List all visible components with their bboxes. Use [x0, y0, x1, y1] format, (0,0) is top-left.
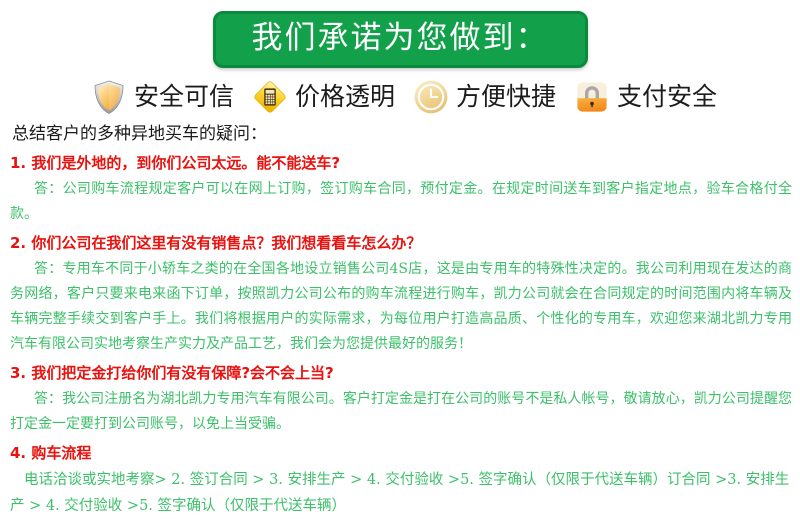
faq-answer: 答：公司购车流程规定客户可以在网上订购，签订购车合同，预付定金。在规定时间送车到…: [10, 177, 792, 227]
faq-answer: 答：专用车不同于小轿车之类的在全国各地设立销售公司4S店，这是由专用车的特殊性决…: [10, 257, 792, 357]
purchase-flow-steps: 电话洽谈或实地考察> 2. 签订合同 > 3. 安排生产 > 4. 交付验收 >…: [10, 467, 792, 519]
feature-label: 安全可信: [134, 82, 234, 112]
feature-label: 支付安全: [617, 82, 717, 112]
feature-item-price: 价格透明: [252, 79, 395, 115]
shield-icon: [91, 79, 127, 115]
promise-banner: 我们承诺为您做到：: [213, 11, 588, 68]
calculator-icon: [252, 79, 288, 115]
banner-row: 我们承诺为您做到：: [0, 0, 800, 68]
purchase-flow-title: 4. 购车流程: [10, 441, 794, 465]
feature-label: 方便快捷: [456, 82, 556, 112]
clock-icon: [413, 79, 449, 115]
faq-answer: 答：我公司注册名为湖北凯力专用汽车有限公司。客户打定金是打在公司的账号不是私人帐…: [10, 387, 792, 437]
feature-item-security: 安全可信: [91, 79, 234, 115]
page-title: 总结客户的多种异地买车的疑问：: [12, 121, 794, 147]
banner-title: 我们承诺为您做到：: [252, 19, 549, 57]
lock-icon: [574, 79, 610, 115]
feature-item-convenience: 方便快捷: [413, 79, 556, 115]
feature-row: 安全可信: [0, 79, 800, 115]
faq-question: 1. 我们是外地的，到你们公司太远。能不能送车?: [10, 151, 794, 175]
faq-question: 3. 我们把定金打给你们有没有保障?会不会上当?: [10, 361, 794, 385]
feature-label: 价格透明: [295, 82, 395, 112]
promo-page: 我们承诺为您做到：: [0, 0, 800, 505]
faq-question: 2. 你们公司在我们这里有没有销售点？我们想看看车怎么办？: [10, 231, 794, 255]
feature-item-payment: 支付安全: [574, 79, 717, 115]
faq-content: 总结客户的多种异地买车的疑问： 1. 我们是外地的，到你们公司太远。能不能送车?…: [0, 115, 800, 519]
